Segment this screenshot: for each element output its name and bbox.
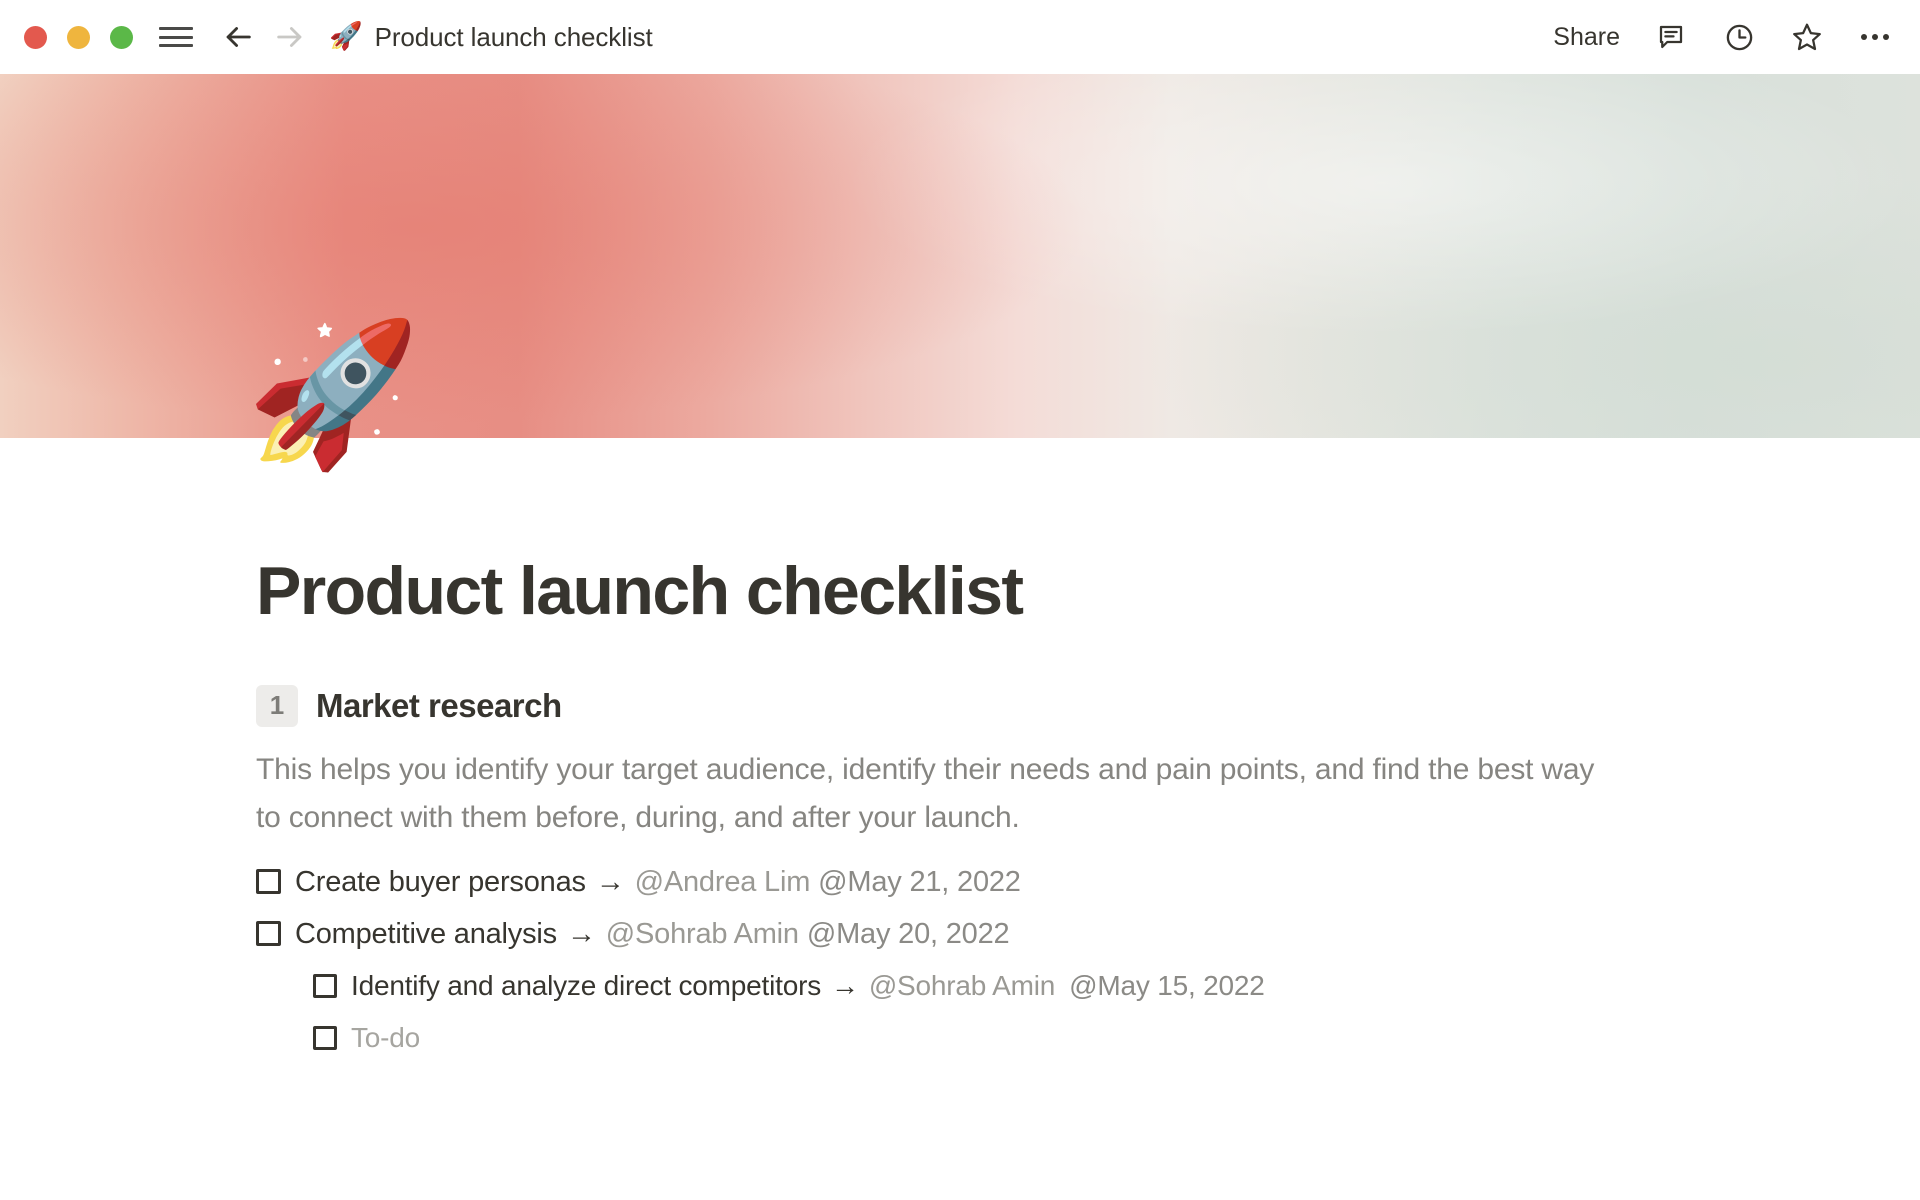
todo-date-mention[interactable]: @May 20, 2022 — [807, 918, 1010, 950]
comment-bubble-icon[interactable] — [1654, 20, 1688, 54]
todo-item[interactable]: Competitive analysis→@Sohrab Amin@May 20… — [256, 908, 1860, 960]
share-button[interactable]: Share — [1553, 23, 1620, 52]
page-title[interactable]: Product launch checklist — [256, 438, 1860, 629]
page-icon-rocket[interactable]: 🚀 — [246, 324, 420, 464]
maximize-window-button[interactable] — [110, 26, 133, 49]
minimize-window-button[interactable] — [67, 26, 90, 49]
todo-label: Create buyer personas→@Andrea Lim@May 21… — [295, 856, 1021, 908]
rocket-icon: 🚀 — [329, 23, 363, 50]
clock-history-icon[interactable] — [1722, 20, 1756, 54]
section-heading-1: 1 Market research — [256, 685, 1860, 727]
section-number-badge: 1 — [256, 685, 298, 727]
todo-checkbox[interactable] — [256, 921, 281, 946]
todo-checkbox[interactable] — [313, 974, 337, 998]
section-paragraph[interactable]: This helps you identify your target audi… — [256, 746, 1616, 842]
page-content: 🚀 Product launch checklist 1 Market rese… — [0, 438, 1920, 1064]
arrow-right-icon[interactable] — [273, 20, 307, 54]
todo-item[interactable]: Create buyer personas→@Andrea Lim@May 21… — [256, 856, 1860, 908]
todo-label: Competitive analysis→@Sohrab Amin@May 20… — [295, 908, 1009, 960]
section-heading-label[interactable]: Market research — [316, 687, 562, 725]
todo-item-nested[interactable]: Identify and analyze direct competitors→… — [256, 960, 1860, 1012]
todo-placeholder-label[interactable]: To-do — [351, 1012, 420, 1064]
todo-assignee-mention[interactable]: @Sohrab Amin — [606, 918, 799, 950]
traffic-light-controls — [24, 26, 133, 49]
navigation-arrows — [221, 20, 307, 54]
todo-text: Competitive analysis — [295, 918, 557, 950]
todo-list: Create buyer personas→@Andrea Lim@May 21… — [256, 856, 1860, 1064]
arrow-left-icon[interactable] — [221, 20, 255, 54]
todo-item-empty[interactable]: To-do — [256, 1012, 1860, 1064]
todo-date-mention[interactable]: @May 21, 2022 — [818, 866, 1021, 898]
more-horizontal-icon[interactable] — [1858, 20, 1892, 54]
window-titlebar: 🚀 Product launch checklist Share — [0, 0, 1920, 74]
titlebar-actions: Share — [1553, 20, 1892, 54]
hamburger-menu-icon[interactable] — [159, 24, 193, 50]
arrow-right-glyph: → — [594, 866, 627, 898]
arrow-right-glyph: → — [565, 918, 598, 950]
close-window-button[interactable] — [24, 26, 47, 49]
todo-text: Create buyer personas — [295, 866, 586, 898]
star-icon[interactable] — [1790, 20, 1824, 54]
todo-assignee-mention[interactable]: @Andrea Lim — [635, 866, 811, 898]
document-title-label: Product launch checklist — [375, 22, 653, 53]
todo-checkbox[interactable] — [313, 1026, 337, 1050]
document-breadcrumb[interactable]: 🚀 Product launch checklist — [329, 22, 653, 53]
todo-assignee-mention[interactable]: @Sohrab Amin — [869, 970, 1055, 1001]
arrow-right-glyph: → — [829, 970, 861, 1001]
todo-checkbox[interactable] — [256, 869, 281, 894]
todo-label: Identify and analyze direct competitors→… — [351, 960, 1265, 1012]
todo-text: Identify and analyze direct competitors — [351, 970, 821, 1001]
todo-date-mention[interactable]: @May 15, 2022 — [1069, 970, 1265, 1001]
